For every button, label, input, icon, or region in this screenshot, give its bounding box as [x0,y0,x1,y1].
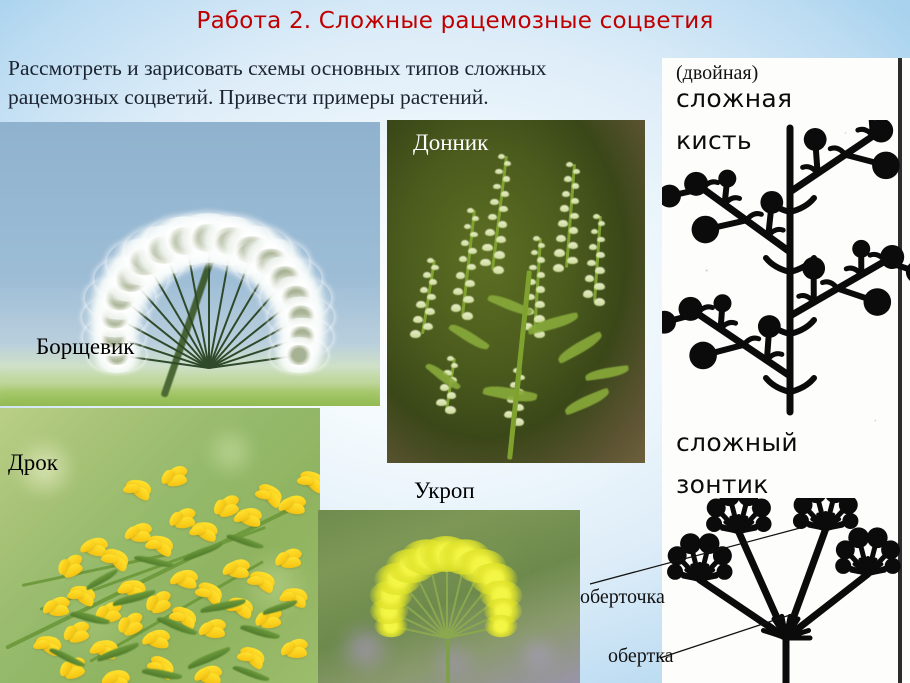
melilot-floret [585,275,595,282]
raceme-flower-head [804,128,827,151]
annotation-obertochka: оберточка [580,586,665,609]
raceme-bracteole [746,214,761,221]
raceme-bract [790,198,814,212]
compound-umbel-diagram [662,498,910,683]
melilot-floret [451,363,459,368]
melilot-floret [504,161,511,166]
umbel-flower-head [680,533,701,554]
melilot-floret [488,214,497,221]
melilot-leaf [563,387,612,415]
melilot-floret [480,259,491,267]
melilot-floret [533,236,540,241]
raceme-bracteole [768,229,783,236]
compound-raceme-diagram [662,120,910,420]
photo-caption-donnik: Донник [413,130,488,156]
melilot-floret [564,176,572,181]
umbel-flower-head [706,516,722,532]
photo-donnik: Донник [387,120,645,463]
melilot-floret [470,232,478,238]
melilot-floret [453,288,463,295]
melilot-floret [413,316,423,323]
umbel-flower-head [717,564,733,580]
raceme-flower-head [802,257,825,280]
melilot-floret [431,265,438,270]
umbel-flower-head [881,540,900,559]
melilot-floret [595,267,605,274]
melilot-floret [482,244,492,251]
melilot-floret [536,286,545,293]
melilot-floret [495,169,503,174]
melilot-floret [560,205,569,211]
melilot-floret [462,312,473,320]
melilot-floret [558,220,567,227]
umbel-flower-head [835,558,851,574]
melilot-floret [456,272,465,279]
melilot-floret [496,236,506,243]
melilot-floret [554,249,564,257]
melilot-floret [463,296,473,304]
melilot-floret [556,235,566,242]
melilot-floret [538,243,545,248]
raceme-bract [766,378,790,392]
raceme-flower-head [662,185,681,208]
melilot-floret [410,330,421,338]
page-title: Работа 2. Сложные рацемозные соцветия [0,8,910,34]
melilot-floret [423,323,434,331]
melilot-floret [467,208,474,213]
melilot-floret [589,244,597,250]
photo-caption-borshchevik: Борщевик [36,334,134,360]
melilot-floret [498,154,505,159]
melilot-floret [427,294,436,301]
melilot-floret [553,264,564,272]
melilot-floret [490,199,499,205]
melilot-floret [501,191,509,197]
raceme-bract [790,320,814,334]
raceme-flower-head [760,191,783,214]
melilot-floret [429,279,437,285]
label-zontik: зонтик [676,470,769,499]
melilot-floret [535,301,545,308]
melilot-floret [567,257,578,265]
photo-drok: Дрок [0,408,320,683]
melilot-floret [416,301,425,308]
raceme-flower-head [758,315,781,338]
raceme-bracteole [846,268,861,275]
melilot-floret [467,264,476,271]
melilot-floret [445,406,456,414]
melilot-floret [493,184,501,190]
broom-petal [145,540,161,549]
melilot-floret [503,176,511,182]
melilot-floret [573,169,580,174]
melilot-floret [499,206,508,212]
melilot-floret [498,221,507,228]
melilot-floret [485,229,495,236]
horizon-blur [0,380,380,406]
raceme-bract [790,378,814,392]
raceme-flower-head [872,152,900,180]
melilot-floret [571,198,579,204]
umbel-flower-head [848,527,869,548]
melilot-floret [596,252,605,258]
umbel-flower-head [793,513,809,529]
umbellet [270,337,328,373]
dill-stalk [446,639,450,683]
raceme-terminal-flower [880,245,904,269]
melilot-floret [594,298,605,306]
umbel-flower-head [885,558,901,574]
melilot-floret [425,308,435,315]
photo-ukrop [318,510,580,683]
photo-caption-drok: Дрок [8,450,58,476]
raceme-bracteole [744,338,759,345]
melilot-floret [436,399,446,407]
raceme-bract [766,258,790,272]
raceme-flower-head [689,342,717,370]
broom-petal [247,575,264,585]
melilot-floret [494,251,504,259]
intro-line-1: Рассмотреть и зарисовать схемы основных … [8,54,658,83]
melilot-floret [423,272,431,278]
raceme-flower-head [906,261,910,284]
photo-borshchevik: Борщевик [0,122,380,406]
melilot-leaf [555,331,604,364]
slide-canvas: Работа 2. Сложные рацемозные соцветия Ра… [0,0,910,683]
melilot-floret [593,214,600,219]
umbel-flower-head [752,498,771,517]
melilot-floret [587,260,596,267]
melilot-floret [537,257,545,263]
melilot-floret [420,287,429,293]
melilot-floret [537,272,546,278]
melilot-floret [598,221,605,226]
raceme-flower-head [864,288,892,316]
melilot-floret [566,162,573,167]
raceme-flower-head [852,240,870,258]
melilot-floret [465,280,475,287]
melilot-floret [461,240,469,246]
melilot-floret [594,283,604,290]
melilot-floret [583,290,594,298]
melilot-floret [570,213,579,220]
raceme-bracteole [721,322,736,329]
raceme-bracteole [725,198,740,205]
raceme-bracteole [823,282,838,289]
intro-paragraph: Рассмотреть и зарисовать схемы основных … [8,54,658,112]
raceme-terminal-flower [679,297,703,321]
label-dvoynaya: (двойная) [676,62,758,85]
label-slozhny: сложный [676,428,798,457]
melilot-floret [447,392,457,399]
intro-line-2: рацемозных соцветий. Привести примеры ра… [8,83,658,112]
raceme-terminal-flower [684,172,708,196]
melilot-main-stem [507,270,532,459]
raceme-flower-head [692,216,720,244]
melilot-floret [572,183,580,189]
umbel-flower-head [713,546,732,565]
melilot-leaf [585,365,630,381]
melilot-floret [472,216,479,221]
raceme-bracteole [830,148,845,155]
melilot-floret [562,191,570,197]
photo-caption-ukrop: Укроп [414,478,475,504]
melilot-floret [451,304,462,312]
annotation-obertka: обертка [608,645,674,668]
raceme-bracteole [803,167,818,174]
melilot-floret [427,258,434,263]
umbel-flower-head [756,516,772,532]
melilot-floret [568,242,578,249]
raceme-bracteole [799,296,814,303]
raceme-bracteole [767,354,782,361]
melilot-floret [493,266,504,274]
melilot-floret [597,237,605,243]
melilot-leaf [448,321,490,354]
umbel-flower-head [667,564,683,580]
raceme-flower-head [718,170,736,188]
diagram-panel: (двойная) сложная кисть сложный зонтик [662,58,910,683]
raceme-flower-head [662,311,676,334]
melilot-floret [468,248,477,254]
raceme-flower-head [713,294,731,312]
melilot-floret [569,227,579,234]
melilot-floret [447,356,454,361]
label-slozhnaya: сложная [676,84,792,113]
umbel-flower-head [842,513,858,529]
